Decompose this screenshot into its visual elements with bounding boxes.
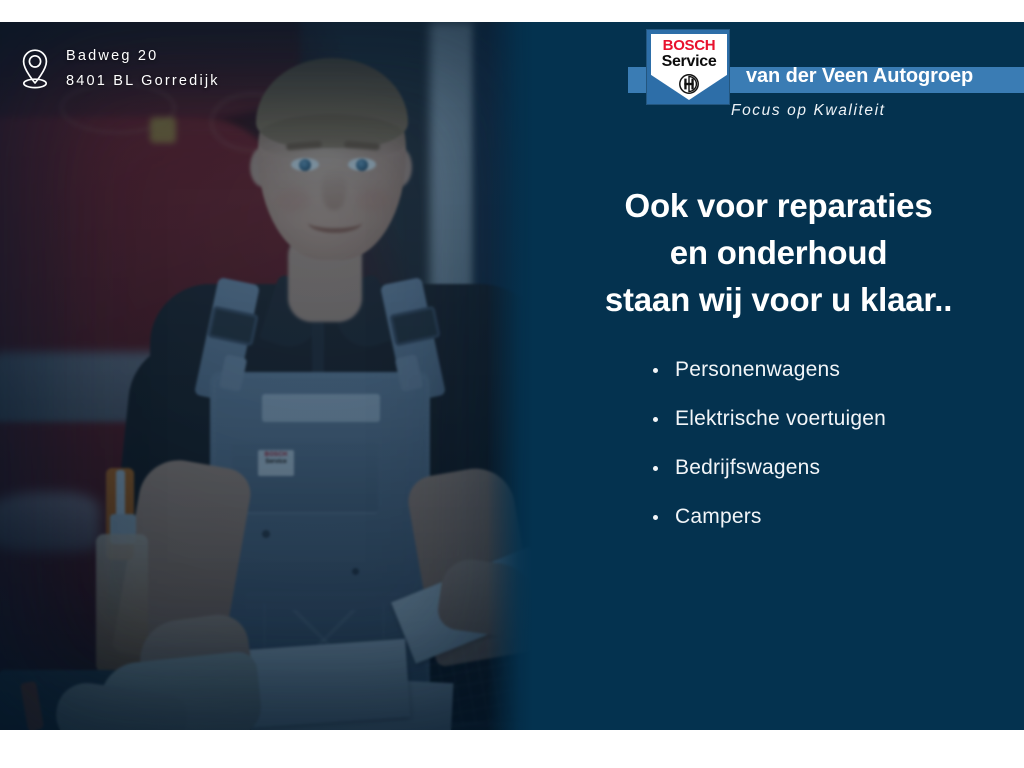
address-block: Badweg 20 8401 BL Gorredijk [18, 44, 220, 94]
headline: Ook voor reparaties en onderhoud staan w… [533, 182, 1024, 323]
company-tagline: Focus op Kwaliteit [731, 102, 886, 120]
headline-line-2: en onderhoud [533, 229, 1024, 276]
address-line-1: Badweg 20 [66, 44, 220, 69]
photo-vignette [0, 22, 533, 730]
bosch-service-logo: BOSCH Service [646, 29, 730, 105]
address-line-2: 8401 BL Gorredijk [66, 69, 220, 94]
top-margin [0, 0, 1024, 22]
advert-banner: BOSCH Service [0, 22, 1024, 730]
bottom-margin [0, 730, 1024, 768]
list-item: Personenwagens [651, 359, 1024, 381]
list-item: Campers [651, 506, 1024, 528]
bosch-logo-service-word: Service [647, 53, 731, 71]
mechanic-photo: BOSCH Service [0, 22, 533, 730]
content-panel: BOSCH Service van der Veen Autogroep Foc… [533, 22, 1024, 730]
map-marker-icon [18, 47, 52, 91]
list-item: Elektrische voertuigen [651, 408, 1024, 430]
headline-line-1: Ook voor reparaties [533, 182, 1024, 229]
list-item: Bedrijfswagens [651, 457, 1024, 479]
company-name: van der Veen Autogroep [746, 65, 973, 88]
services-list: Personenwagens Elektrische voertuigen Be… [651, 359, 1024, 555]
address-text: Badweg 20 8401 BL Gorredijk [66, 44, 220, 94]
photo-edge-fade [487, 22, 533, 730]
bosch-armature-icon [678, 73, 700, 95]
bosch-logo-bosch-word: BOSCH [647, 37, 731, 54]
headline-line-3: staan wij voor u klaar.. [533, 276, 1024, 323]
